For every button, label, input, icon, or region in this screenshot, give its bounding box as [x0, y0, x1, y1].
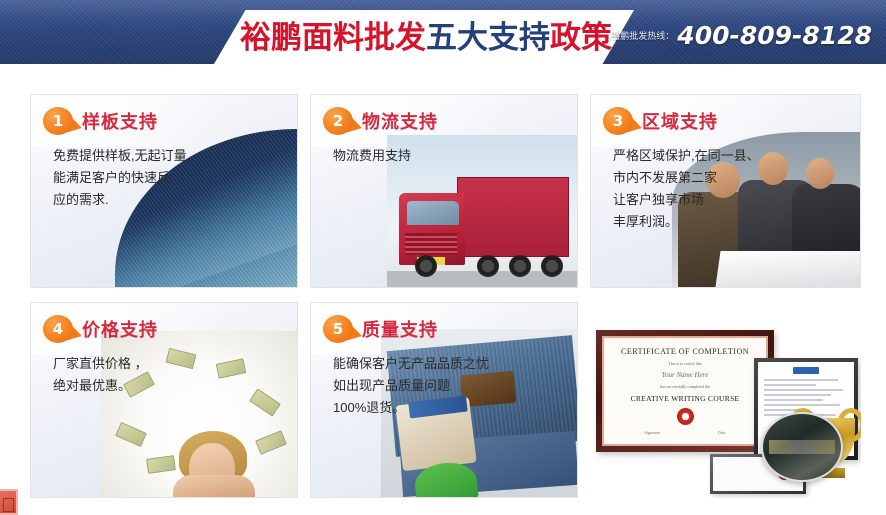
certificate-date-label: Date — [718, 430, 726, 435]
truck-window-shape — [407, 201, 459, 225]
certificate-seal-icon — [677, 408, 694, 425]
truck-wheel-shape — [415, 255, 437, 277]
text-line-shape — [764, 389, 843, 391]
certificate-photo: CERTIFICATE OF COMPLETION This is to cer… — [590, 302, 861, 498]
text-line-shape — [764, 379, 838, 381]
number-badge-icon: 1 — [43, 107, 73, 135]
person-head-shape — [758, 152, 788, 185]
banknote-shape — [255, 430, 287, 454]
certificate-logo-bar-icon — [793, 367, 819, 374]
certificate-heading: CERTIFICATE OF COMPLETION — [621, 347, 749, 356]
card-line: 能确保客户无产品品质之忧 — [333, 353, 489, 375]
banknote-shape — [146, 455, 176, 474]
card-header: 4 价格支持 — [43, 315, 158, 343]
certificate-subtitle: This is to certify that — [668, 361, 701, 366]
text-line-shape — [764, 394, 831, 396]
card-line: 厂家直供价格 ， — [53, 353, 148, 375]
card-description: 免费提供样板,无起订量, 能满足客户的快速反 应的需求. — [53, 145, 190, 211]
policy-card-quality-support[interactable]: 5 质量支持 能确保客户无产品品质之忧 如出现产品质量问题 100%退货。 — [310, 302, 578, 498]
card-description: 严格区域保护,在同一县、 市内不发展第二家 让客户独享市场 丰厚利润。 — [613, 145, 760, 233]
truck-container-shape — [457, 177, 569, 257]
policy-card-region-support[interactable]: 3 区域支持 严格区域保护,在同一县、 市内不发展第二家 让客户独享市场 丰厚利… — [590, 94, 861, 288]
card-title: 区域支持 — [642, 108, 718, 134]
card-header: 3 区域支持 — [603, 107, 718, 135]
red-truck-photo — [387, 135, 577, 287]
card-line: 能满足客户的快速反 — [53, 167, 190, 189]
certificate-note: has successfully completed the — [660, 384, 709, 389]
truck-wheel-shape — [541, 255, 563, 277]
certificates-panel: CERTIFICATE OF COMPLETION This is to cer… — [590, 302, 861, 498]
award-oval-photo — [761, 412, 843, 482]
banknote-shape — [216, 358, 247, 378]
card-header: 5 质量支持 — [323, 315, 438, 343]
card-title: 样板支持 — [82, 108, 158, 134]
page-title-part3: 政策 — [550, 20, 612, 55]
card-line: 丰厚利润。 — [613, 211, 760, 233]
certificate-main-body: CERTIFICATE OF COMPLETION This is to cer… — [602, 336, 768, 446]
card-title: 物流支持 — [362, 108, 438, 134]
woman-torso-shape — [173, 475, 255, 497]
number-badge-icon: 2 — [323, 107, 353, 135]
text-line-shape — [764, 384, 816, 386]
policy-card-price-support[interactable]: 4 价格支持 厂家直供价格 ， 绝对最优惠。 — [30, 302, 298, 498]
policy-card-logistics-support[interactable]: 2 物流支持 物流费用支持 — [310, 94, 578, 288]
certificate-main-frame: CERTIFICATE OF COMPLETION This is to cer… — [596, 330, 774, 452]
certificate-name: Your Name Here — [662, 371, 709, 379]
card-header: 1 样板支持 — [43, 107, 158, 135]
truck-wheel-shape — [477, 255, 499, 277]
card-line: 免费提供样板,无起订量, — [53, 145, 190, 167]
card-description: 厂家直供价格 ， 绝对最优惠。 — [53, 353, 148, 397]
support-policy-grid: 1 样板支持 免费提供样板,无起订量, 能满足客户的快速反 应的需求. 2 物流… — [30, 94, 861, 498]
card-title: 价格支持 — [82, 316, 158, 342]
banknote-shape — [115, 422, 147, 447]
page-title: 裕鹏面料批发五大支持政策 — [236, 19, 616, 59]
hotline-label: 裕鹏批发热线： — [611, 29, 674, 42]
card-line: 绝对最优惠。 — [53, 375, 148, 397]
number-badge-icon: 5 — [323, 315, 353, 343]
card-line: 严格区域保护,在同一县、 — [613, 145, 760, 167]
page-title-part2: 五大支持 — [426, 20, 550, 55]
card-line: 100%退货。 — [333, 397, 489, 419]
text-line-shape — [764, 404, 840, 406]
card-line: 市内不发展第二家 — [613, 167, 760, 189]
card-description: 物流费用支持 — [333, 145, 411, 167]
certificate-signature-row: Signature Date — [645, 430, 726, 435]
certificate-course: CREATIVE WRITING COURSE — [631, 394, 740, 403]
card-title: 质量支持 — [362, 316, 438, 342]
page-header: 裕鹏面料批发五大支持政策 裕鹏批发热线： 400-809-8128 — [0, 0, 886, 64]
card-description: 能确保客户无产品品质之忧 如出现产品质量问题 100%退货。 — [333, 353, 489, 419]
policy-card-sample-support[interactable]: 1 样板支持 免费提供样板,无起订量, 能满足客户的快速反 应的需求. — [30, 94, 298, 288]
number-badge-icon: 4 — [43, 315, 73, 343]
card-line: 应的需求. — [53, 189, 190, 211]
certificate-signature-label: Signature — [645, 430, 660, 435]
card-line: 让客户独享市场 — [613, 189, 760, 211]
truck-grill-shape — [405, 233, 457, 255]
banknote-shape — [166, 348, 197, 369]
hotline-block: 裕鹏批发热线： 400-809-8128 — [611, 21, 872, 50]
card-line: 如出现产品质量问题 — [333, 375, 489, 397]
page-title-part1: 裕鹏面料批发 — [240, 20, 426, 55]
person-head-shape — [806, 158, 834, 189]
document-paper-shape — [715, 251, 860, 287]
truck-wheel-shape — [509, 255, 531, 277]
corner-thumbnail-stub[interactable] — [0, 489, 18, 515]
card-line: 物流费用支持 — [333, 145, 411, 167]
card-header: 2 物流支持 — [323, 107, 438, 135]
text-line-shape — [764, 399, 823, 401]
number-badge-icon: 3 — [603, 107, 633, 135]
hotline-number[interactable]: 400-809-8128 — [677, 21, 872, 50]
banknote-shape — [249, 388, 281, 416]
